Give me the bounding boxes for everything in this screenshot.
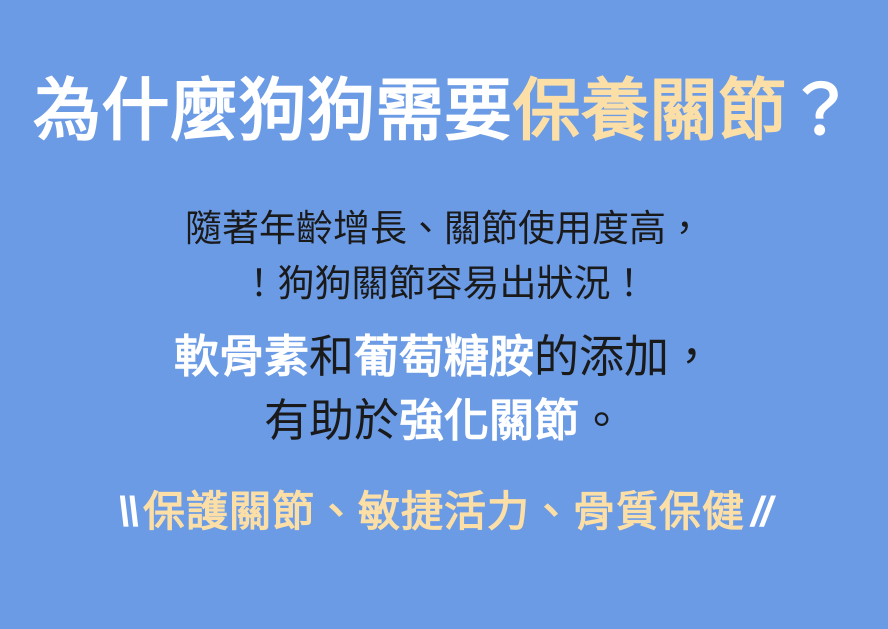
feature-tagline: \\保護關節、敏捷活力、骨質保健// [0, 487, 888, 537]
slash-left-decoration: \\ [112, 488, 143, 535]
benefit-ingredient-chondroitin: 軟骨素 [174, 331, 309, 382]
slash-right-decoration: // [745, 488, 776, 535]
poster-canvas: 為什麼狗狗需要保養關節？ 隨著年齡增長、關節使用度高， ！狗狗關節容易出狀況！ … [0, 0, 888, 629]
benefit-ingredient-glucosamine: 葡萄糖胺 [354, 331, 534, 382]
benefit-paragraph: 軟骨素和葡萄糖胺的添加， 有助於強化關節。 [0, 325, 888, 453]
benefit-line-2: 有助於強化關節。 [0, 389, 888, 453]
tagline-text: 保護關節、敏捷活力、骨質保健 [143, 488, 745, 535]
benefit-conjunction: 和 [309, 331, 354, 382]
headline-accent-text: 保養關節 [512, 73, 786, 149]
headline-lead-text: 為什麼狗狗需要 [33, 73, 513, 149]
intro-paragraph: 隨著年齡增長、關節使用度高， ！狗狗關節容易出狀況！ [0, 202, 888, 312]
headline-question-mark: ？ [787, 73, 856, 149]
intro-line-2: ！狗狗關節容易出狀況！ [0, 257, 888, 312]
benefit-line-1-tail: 的添加， [534, 331, 714, 382]
intro-line-1: 隨著年齡增長、關節使用度高， [0, 202, 888, 257]
benefit-line-2-lead: 有助於 [264, 395, 399, 446]
benefit-strengthen-joints: 強化關節 [399, 395, 579, 446]
page-title: 為什麼狗狗需要保養關節？ [0, 76, 888, 147]
benefit-line-2-period: 。 [579, 395, 624, 446]
benefit-line-1: 軟骨素和葡萄糖胺的添加， [0, 325, 888, 389]
